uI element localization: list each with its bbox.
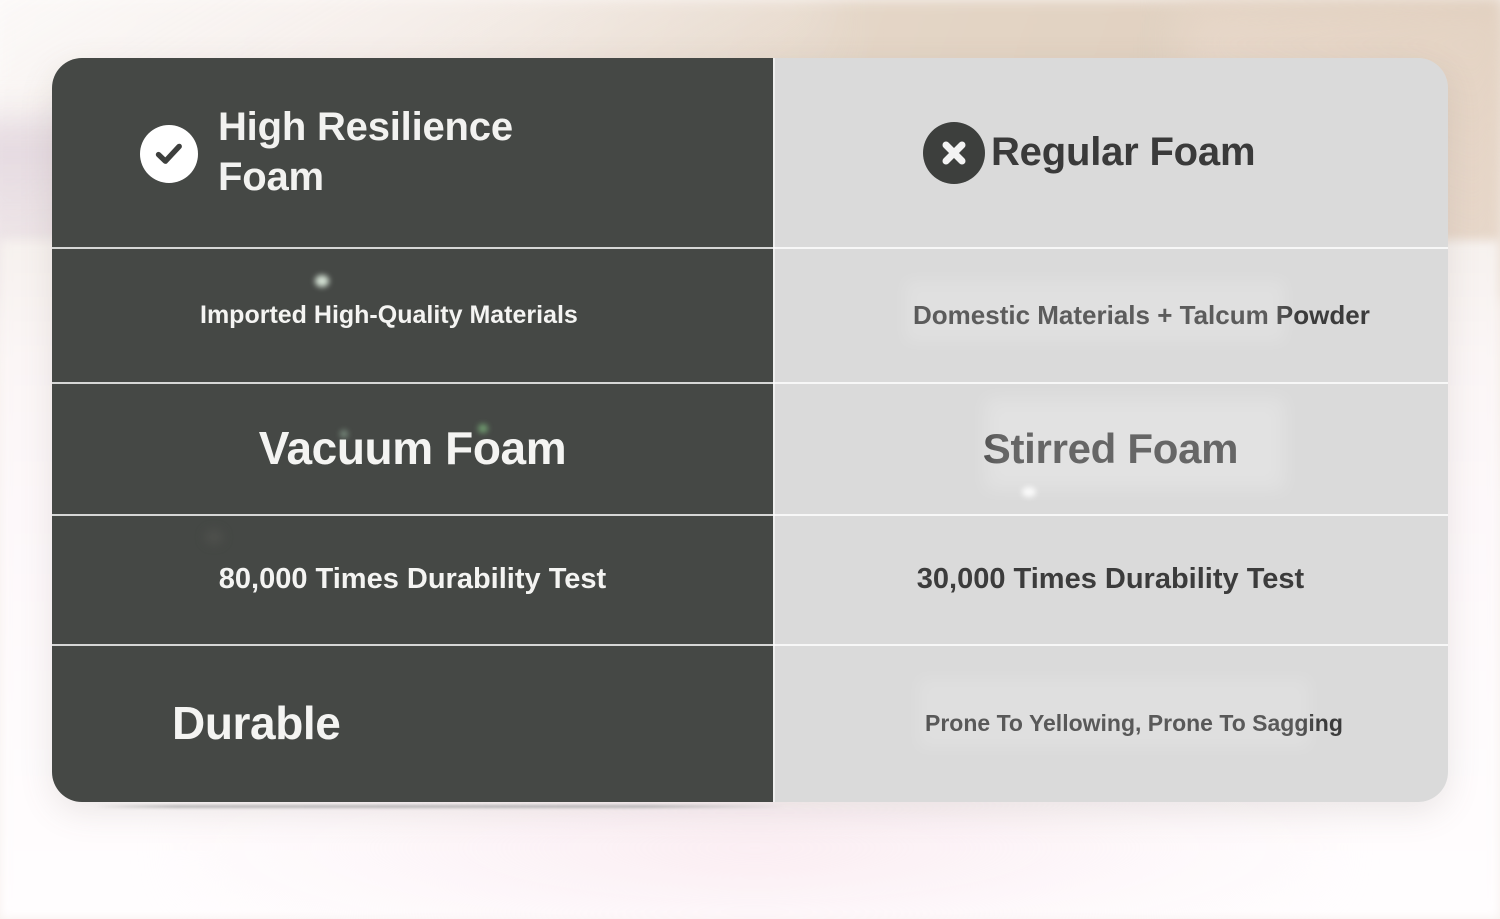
background-surface-edge: [95, 805, 785, 808]
header-title-right: Regular Foam: [991, 128, 1255, 178]
glare-haze: [918, 678, 1310, 748]
header-cell-high-resilience-foam: High Resilience Foam: [52, 58, 773, 248]
cell-foaming-process-left: Vacuum Foam: [52, 383, 773, 515]
table-row: 80,000 Times Durability Test 30,000 Time…: [52, 515, 1448, 645]
cell-durability-test-right: 30,000 Times Durability Test: [773, 515, 1448, 645]
table-header-row: High Resilience Foam Regular Foam: [52, 58, 1448, 248]
cell-text: Durable: [172, 696, 773, 751]
glare-haze: [985, 398, 1285, 490]
cell-text: 30,000 Times Durability Test: [917, 561, 1304, 599]
cell-text: 80,000 Times Durability Test: [219, 561, 606, 599]
cell-text: Imported High-Quality Materials: [200, 297, 773, 334]
cell-materials-left: Imported High-Quality Materials: [52, 248, 773, 383]
x-circle-icon: [923, 122, 985, 184]
cell-durability-test-left: 80,000 Times Durability Test: [52, 515, 773, 645]
cell-text: Vacuum Foam: [259, 421, 566, 476]
check-circle-icon: [140, 125, 198, 183]
cell-longevity-left: Durable: [52, 645, 773, 802]
glare-haze: [905, 280, 1285, 342]
header-cell-regular-foam: Regular Foam: [773, 58, 1448, 248]
header-title-left: High Resilience Foam: [218, 103, 578, 202]
